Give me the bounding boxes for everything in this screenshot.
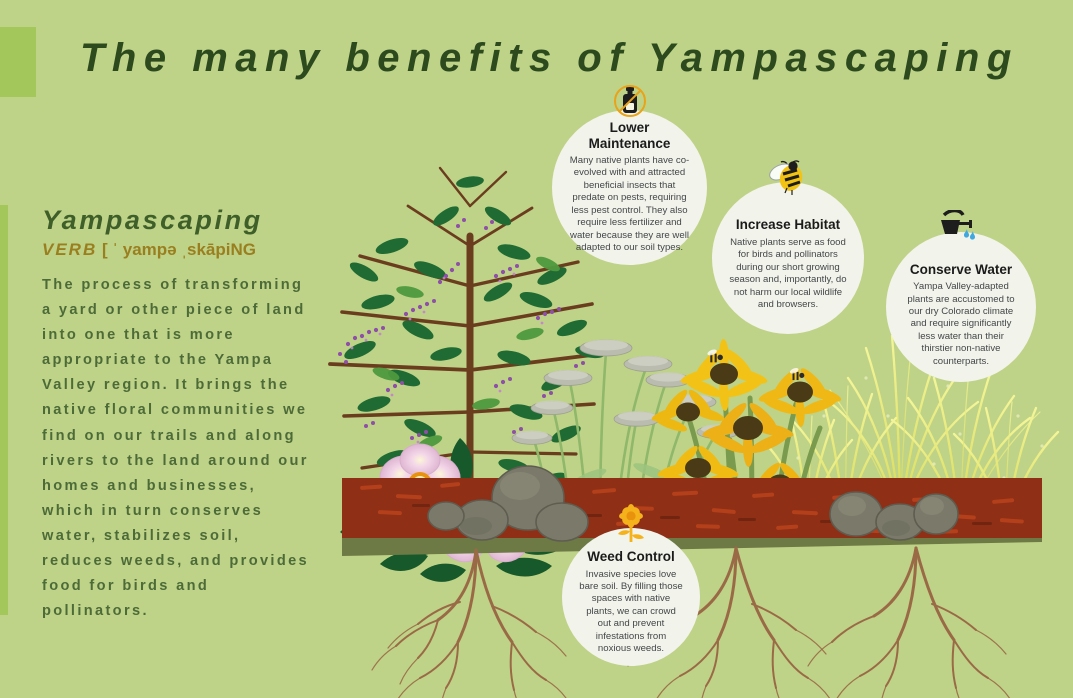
callout-conserve-water[interactable]: Conserve Water Yampa Valley-adapted plan… bbox=[886, 232, 1036, 382]
callout-body: Native plants serve as food for birds an… bbox=[729, 237, 847, 312]
callout-title: Conserve Water bbox=[910, 262, 1012, 277]
part-of-speech: VERB bbox=[42, 240, 97, 259]
callout-weed-control[interactable]: Weed Control Invasive species love bare … bbox=[562, 528, 700, 666]
phonetic-spelling: [ ˈ yampə ˌskāpiNG bbox=[102, 240, 256, 259]
callout-title: Increase Habitat bbox=[736, 217, 840, 232]
definition-block: Yampascaping VERB [ ˈ yampə ˌskāpiNG The… bbox=[42, 205, 310, 624]
watering-can-icon bbox=[938, 210, 984, 251]
callout-body: Invasive species love bare soil. By fill… bbox=[579, 569, 683, 656]
callout-title: Lower Maintenance bbox=[569, 120, 690, 151]
infographic-poster: The many benefits of Yampascaping Yampas… bbox=[0, 0, 1073, 698]
callout-body: Many native plants have co-evolved with … bbox=[569, 155, 690, 255]
no-pesticide-spray-bottle-icon bbox=[613, 84, 647, 123]
callout-title: Weed Control bbox=[587, 549, 675, 564]
definition-pronunciation: VERB [ ˈ yampə ˌskāpiNG bbox=[42, 240, 310, 260]
definition-term: Yampascaping bbox=[42, 205, 310, 236]
callout-increase-habitat[interactable]: Increase Habitat Native plants serve as … bbox=[712, 182, 864, 334]
bee-icon bbox=[767, 160, 809, 201]
yellow-flower-icon bbox=[613, 504, 649, 549]
callout-lower-maintenance[interactable]: Lower Maintenance Many native plants hav… bbox=[552, 110, 707, 265]
definition-body: The process of transforming a yard or ot… bbox=[42, 273, 310, 624]
left-accent-stripe bbox=[0, 205, 8, 615]
callout-body: Yampa Valley-adapted plants are accustom… bbox=[903, 281, 1019, 368]
page-title: The many benefits of Yampascaping bbox=[80, 36, 1010, 81]
header-accent-block bbox=[0, 27, 36, 97]
